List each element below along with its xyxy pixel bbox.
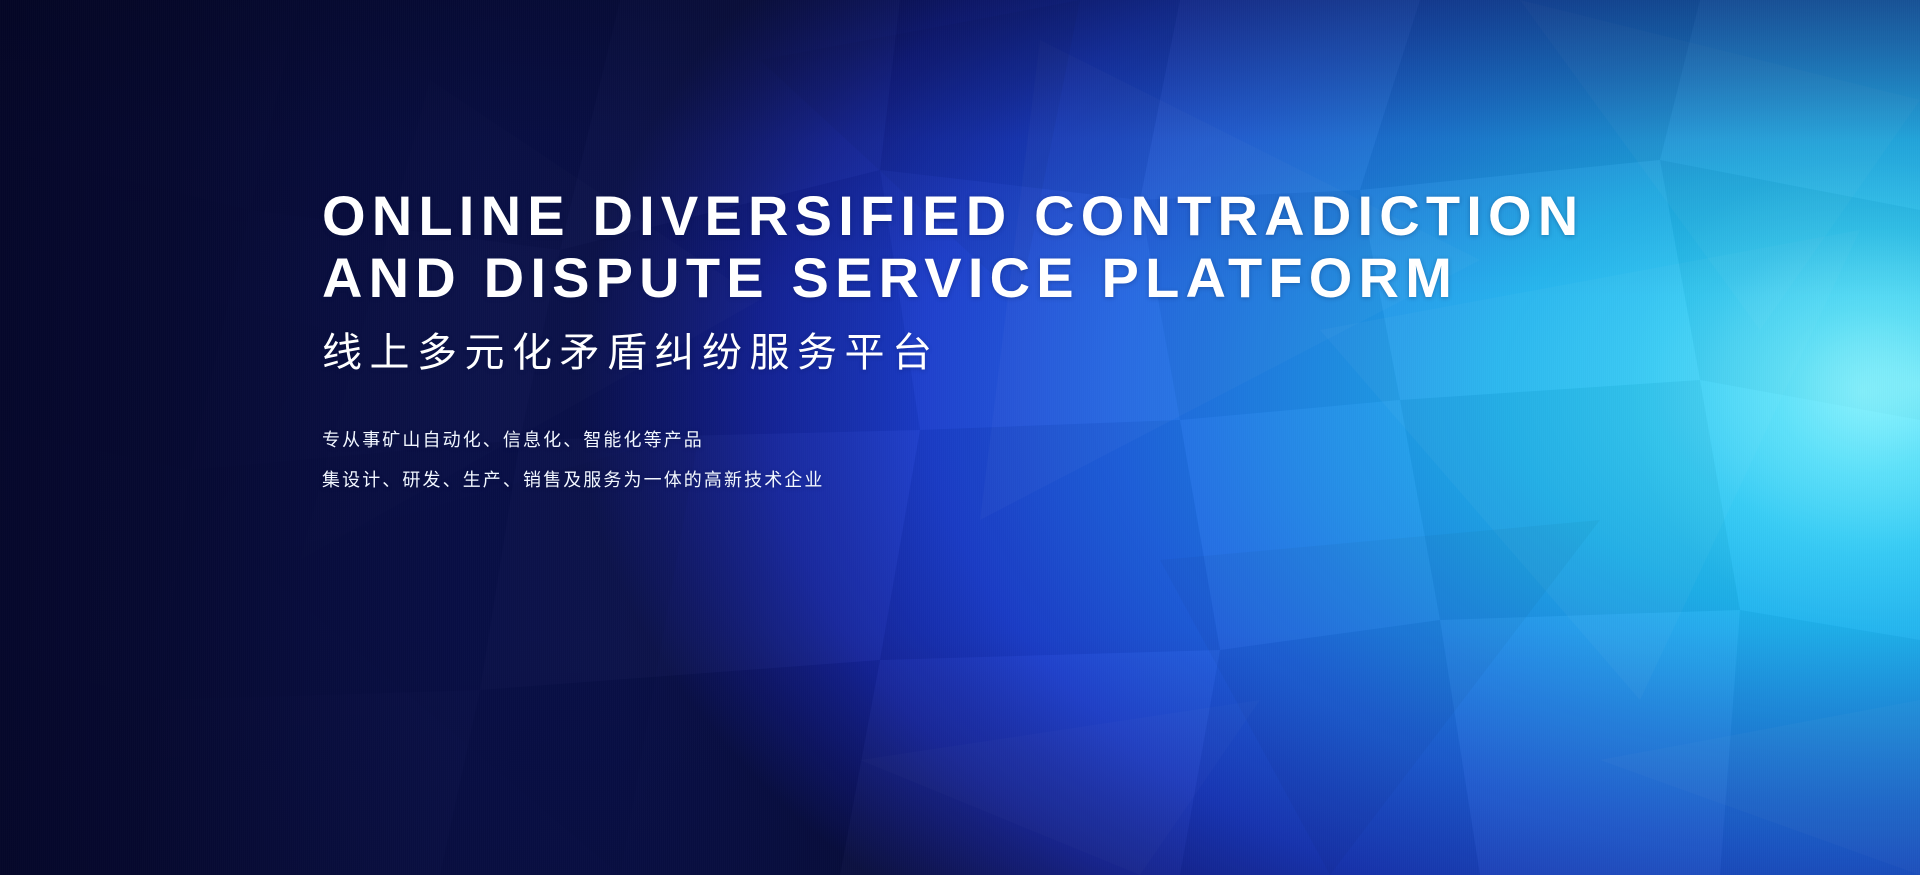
hero-title-english: ONLINE DIVERSIFIED CONTRADICTION AND DIS… — [322, 185, 1722, 309]
hero-description-line-2: 集设计、研发、生产、销售及服务为一体的高新技术企业 — [322, 460, 1722, 500]
hero-content: ONLINE DIVERSIFIED CONTRADICTION AND DIS… — [322, 185, 1722, 500]
hero-title-english-line-2: AND DISPUTE SERVICE PLATFORM — [322, 247, 1722, 309]
hero-description: 专从事矿山自动化、信息化、智能化等产品 集设计、研发、生产、销售及服务为一体的高… — [322, 420, 1722, 500]
hero-description-line-1: 专从事矿山自动化、信息化、智能化等产品 — [322, 420, 1722, 460]
hero-title-chinese: 线上多元化矛盾纠纷服务平台 — [322, 328, 1722, 378]
hero-banner: ONLINE DIVERSIFIED CONTRADICTION AND DIS… — [0, 0, 1920, 875]
hero-title-english-line-1: ONLINE DIVERSIFIED CONTRADICTION — [322, 185, 1722, 247]
